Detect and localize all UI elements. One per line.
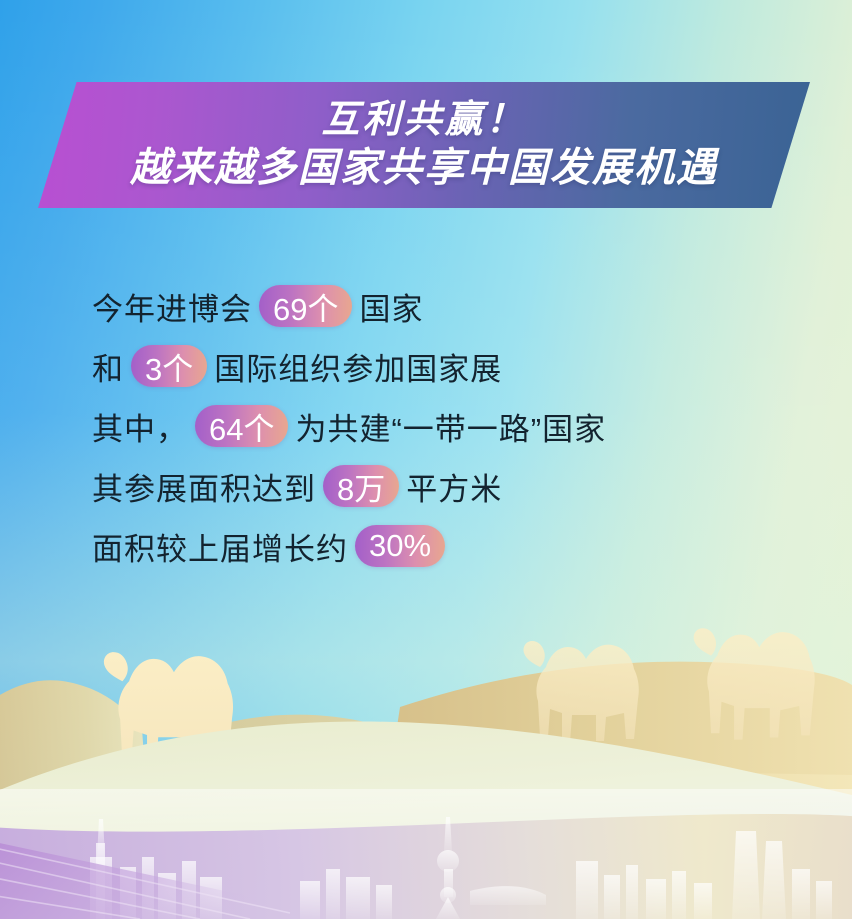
stat-badge-belt-and-road: 64个: [195, 405, 288, 447]
line-4-prefix: 其参展面积达到: [92, 464, 316, 509]
line-2-suffix: 国际组织参加国家展: [214, 344, 502, 389]
line-5-prefix: 面积较上届增长约: [92, 524, 348, 569]
line-1-prefix: 今年进博会: [92, 284, 252, 329]
line-3-prefix: 其中，: [92, 404, 188, 449]
list-item: 今年进博会 69个 国家: [92, 284, 792, 328]
stat-badge-area: 8万: [323, 465, 399, 507]
stat-badge-countries: 69个: [259, 285, 352, 327]
banner-title-line-1: 互利共赢！: [321, 98, 526, 142]
list-item: 其中， 64个 为共建“一带一路”国家: [92, 404, 792, 448]
title-banner: 互利共赢！ 越来越多国家共享中国发展机遇: [38, 82, 810, 208]
stat-badge-growth: 30%: [355, 525, 445, 567]
stat-badge-organizations: 3个: [131, 345, 207, 387]
statistics-list: 今年进博会 69个 国家 和 3个 国际组织参加国家展 其中， 64个 为共建“…: [92, 284, 792, 584]
infographic-poster: 互利共赢！ 越来越多国家共享中国发展机遇 今年进博会 69个 国家 和 3个 国…: [0, 0, 852, 919]
line-4-suffix: 平方米: [406, 464, 502, 509]
scenery-illustration: [0, 589, 852, 919]
banner-title-line-2: 越来越多国家共享中国发展机遇: [130, 144, 718, 192]
list-item: 其参展面积达到 8万 平方米: [92, 464, 792, 508]
line-3-suffix: 为共建“一带一路”国家: [295, 404, 606, 449]
list-item: 面积较上届增长约 30%: [92, 524, 792, 568]
line-1-suffix: 国家: [359, 284, 423, 329]
list-item: 和 3个 国际组织参加国家展: [92, 344, 792, 388]
line-2-prefix: 和: [92, 344, 124, 389]
